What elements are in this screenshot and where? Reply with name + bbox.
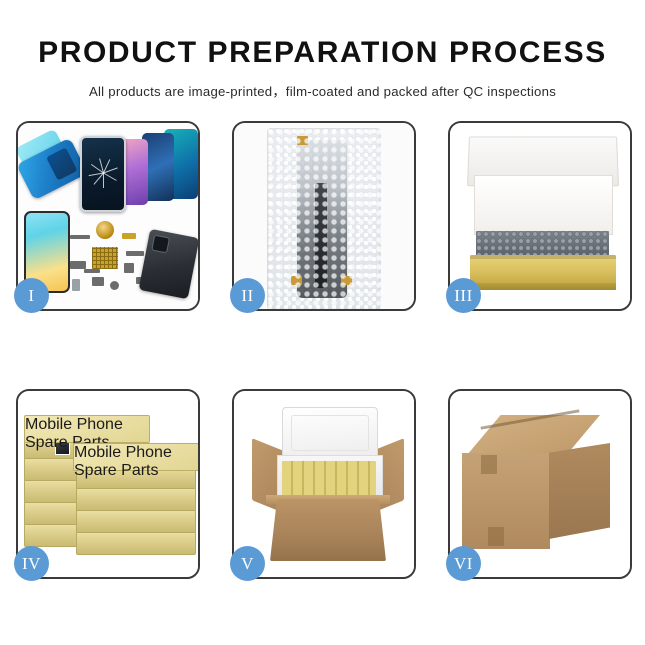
step-card-2: II (232, 121, 416, 311)
crack-pattern-icon (88, 158, 118, 188)
step-image-phone-screens-and-parts (18, 123, 198, 309)
step-card-1: I (16, 121, 200, 311)
step-image-stacked-yellow-boxes: Mobile Phone Spare Parts Mobile Phone Sp… (18, 391, 198, 577)
box-label-text-right: Mobile Phone Spare Parts (74, 444, 198, 480)
step-badge-6: VI (446, 546, 481, 581)
step-card-6: VI (448, 389, 632, 579)
coil-part-icon (96, 221, 114, 239)
step-badge-1: I (14, 278, 49, 313)
carton-right-face-icon (549, 443, 610, 539)
foam-case-lid-icon (282, 407, 378, 461)
connector-top-icon (297, 136, 308, 145)
step-badge-3: III (446, 278, 481, 313)
steps-grid: I II (16, 121, 632, 579)
yellow-box-body-icon (470, 255, 616, 285)
step-badge-2: II (230, 278, 265, 313)
yellow-box-side-icon (470, 283, 616, 290)
step-image-open-yellow-box-with-foam (450, 123, 630, 309)
chip-grid-part-icon (92, 247, 118, 269)
yellow-boxes-rows-icon (282, 461, 376, 497)
phone-back-housing-icon (139, 229, 198, 299)
bubble-wrap-bag-icon (267, 128, 381, 309)
carton-front-icon (270, 499, 386, 561)
page-subtitle: All products are image-printed，film-coat… (0, 81, 645, 100)
page-title: PRODUCT PREPARATION PROCESS (0, 38, 645, 68)
step-badge-4: IV (14, 546, 49, 581)
box-stack-icon: Mobile Phone Spare Parts Mobile Phone Sp… (24, 405, 194, 565)
phone-cracked-screen-icon (80, 136, 126, 212)
step-card-5: V (232, 389, 416, 579)
product-preparation-infographic: PRODUCT PREPARATION PROCESS All products… (0, 0, 645, 645)
connector-bottom-left-icon (291, 276, 302, 285)
step-image-bubble-wrapped-screen (234, 123, 414, 309)
step-image-sealed-shipping-carton (450, 391, 630, 577)
carton-left-face-icon (462, 453, 550, 549)
box-lid-front-icon (474, 175, 613, 235)
carton-tape-top-icon (481, 455, 497, 474)
connector-bottom-right-icon (341, 276, 352, 285)
step-card-4: Mobile Phone Spare Parts Mobile Phone Sp… (16, 389, 200, 579)
step-image-carton-with-foam-case (234, 391, 414, 577)
step-badge-5: V (230, 546, 265, 581)
carton-tape-bottom-icon (488, 527, 504, 546)
step-card-3: III (448, 121, 632, 311)
flex-cable-icon (315, 183, 327, 288)
header: PRODUCT PREPARATION PROCESS All products… (0, 0, 645, 100)
